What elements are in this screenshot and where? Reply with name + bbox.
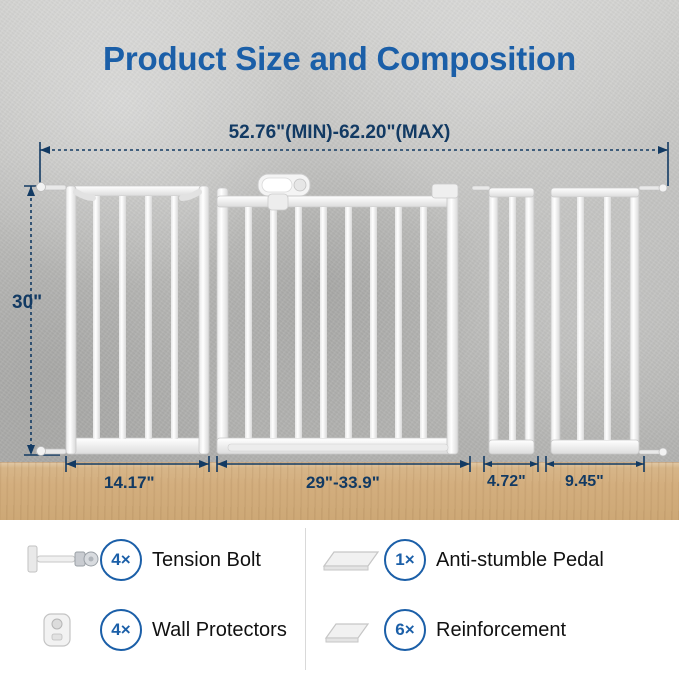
accessory-item-reinforcement: 6× Reinforcement — [318, 608, 566, 652]
tension-bolt-ext-small-top — [472, 186, 490, 190]
accessory-label: Reinforcement — [436, 619, 566, 642]
accessory-divider — [305, 528, 306, 670]
accessory-count-badge: 6× — [384, 609, 426, 651]
gate-main-door — [217, 174, 458, 454]
accessory-count-badge: 4× — [100, 609, 142, 651]
gate-left-panel — [36, 183, 209, 456]
dimension-line-panel-left — [66, 456, 209, 472]
dimension-line-top — [40, 142, 668, 186]
dimension-label-top-width: 52.76"(MIN)-62.20"(MAX) — [0, 122, 679, 144]
accessory-count-badge: 1× — [384, 539, 426, 581]
tension-bolt-left-top — [36, 183, 66, 192]
accessory-label: Tension Bolt — [152, 549, 261, 572]
tension-bolt-left-bottom — [36, 447, 66, 456]
accessory-item-tension-bolt: 4× Tension Bolt — [22, 538, 261, 582]
dimension-line-panel-gate — [217, 456, 470, 472]
accessory-count-badge: 4× — [100, 539, 142, 581]
tension-bolt-ext-large-top — [639, 184, 667, 192]
dimension-label-height: 30" — [12, 292, 42, 314]
dimension-label-ext-small: 4.72" — [487, 473, 526, 491]
dimension-label-panel-gate: 29"-33.9" — [306, 473, 380, 493]
dimension-label-panel-left: 14.17" — [104, 473, 155, 493]
pedal-icon — [318, 538, 384, 582]
dimension-label-ext-large: 9.45" — [565, 473, 604, 491]
accessory-item-anti-stumble-pedal: 1× Anti-stumble Pedal — [318, 538, 604, 582]
accessory-label: Wall Protectors — [152, 619, 287, 642]
accessory-item-wall-protectors: 4× Wall Protectors — [22, 608, 287, 652]
dimension-line-ext-small — [484, 456, 538, 472]
dimension-line-ext-large — [546, 456, 644, 472]
product-infographic: Product Size and Composition — [0, 0, 679, 679]
tension-bolt-ext-large-bottom — [639, 448, 667, 456]
gate-extension-small — [472, 186, 534, 454]
accessory-label: Anti-stumble Pedal — [436, 549, 604, 572]
wall-protector-icon — [22, 608, 100, 652]
tension-bolt-icon — [22, 538, 100, 582]
gate-latch-catch — [432, 184, 458, 198]
gate-extension-large — [551, 184, 667, 456]
reinforcement-icon — [318, 608, 384, 652]
dimension-line-height — [24, 186, 60, 455]
